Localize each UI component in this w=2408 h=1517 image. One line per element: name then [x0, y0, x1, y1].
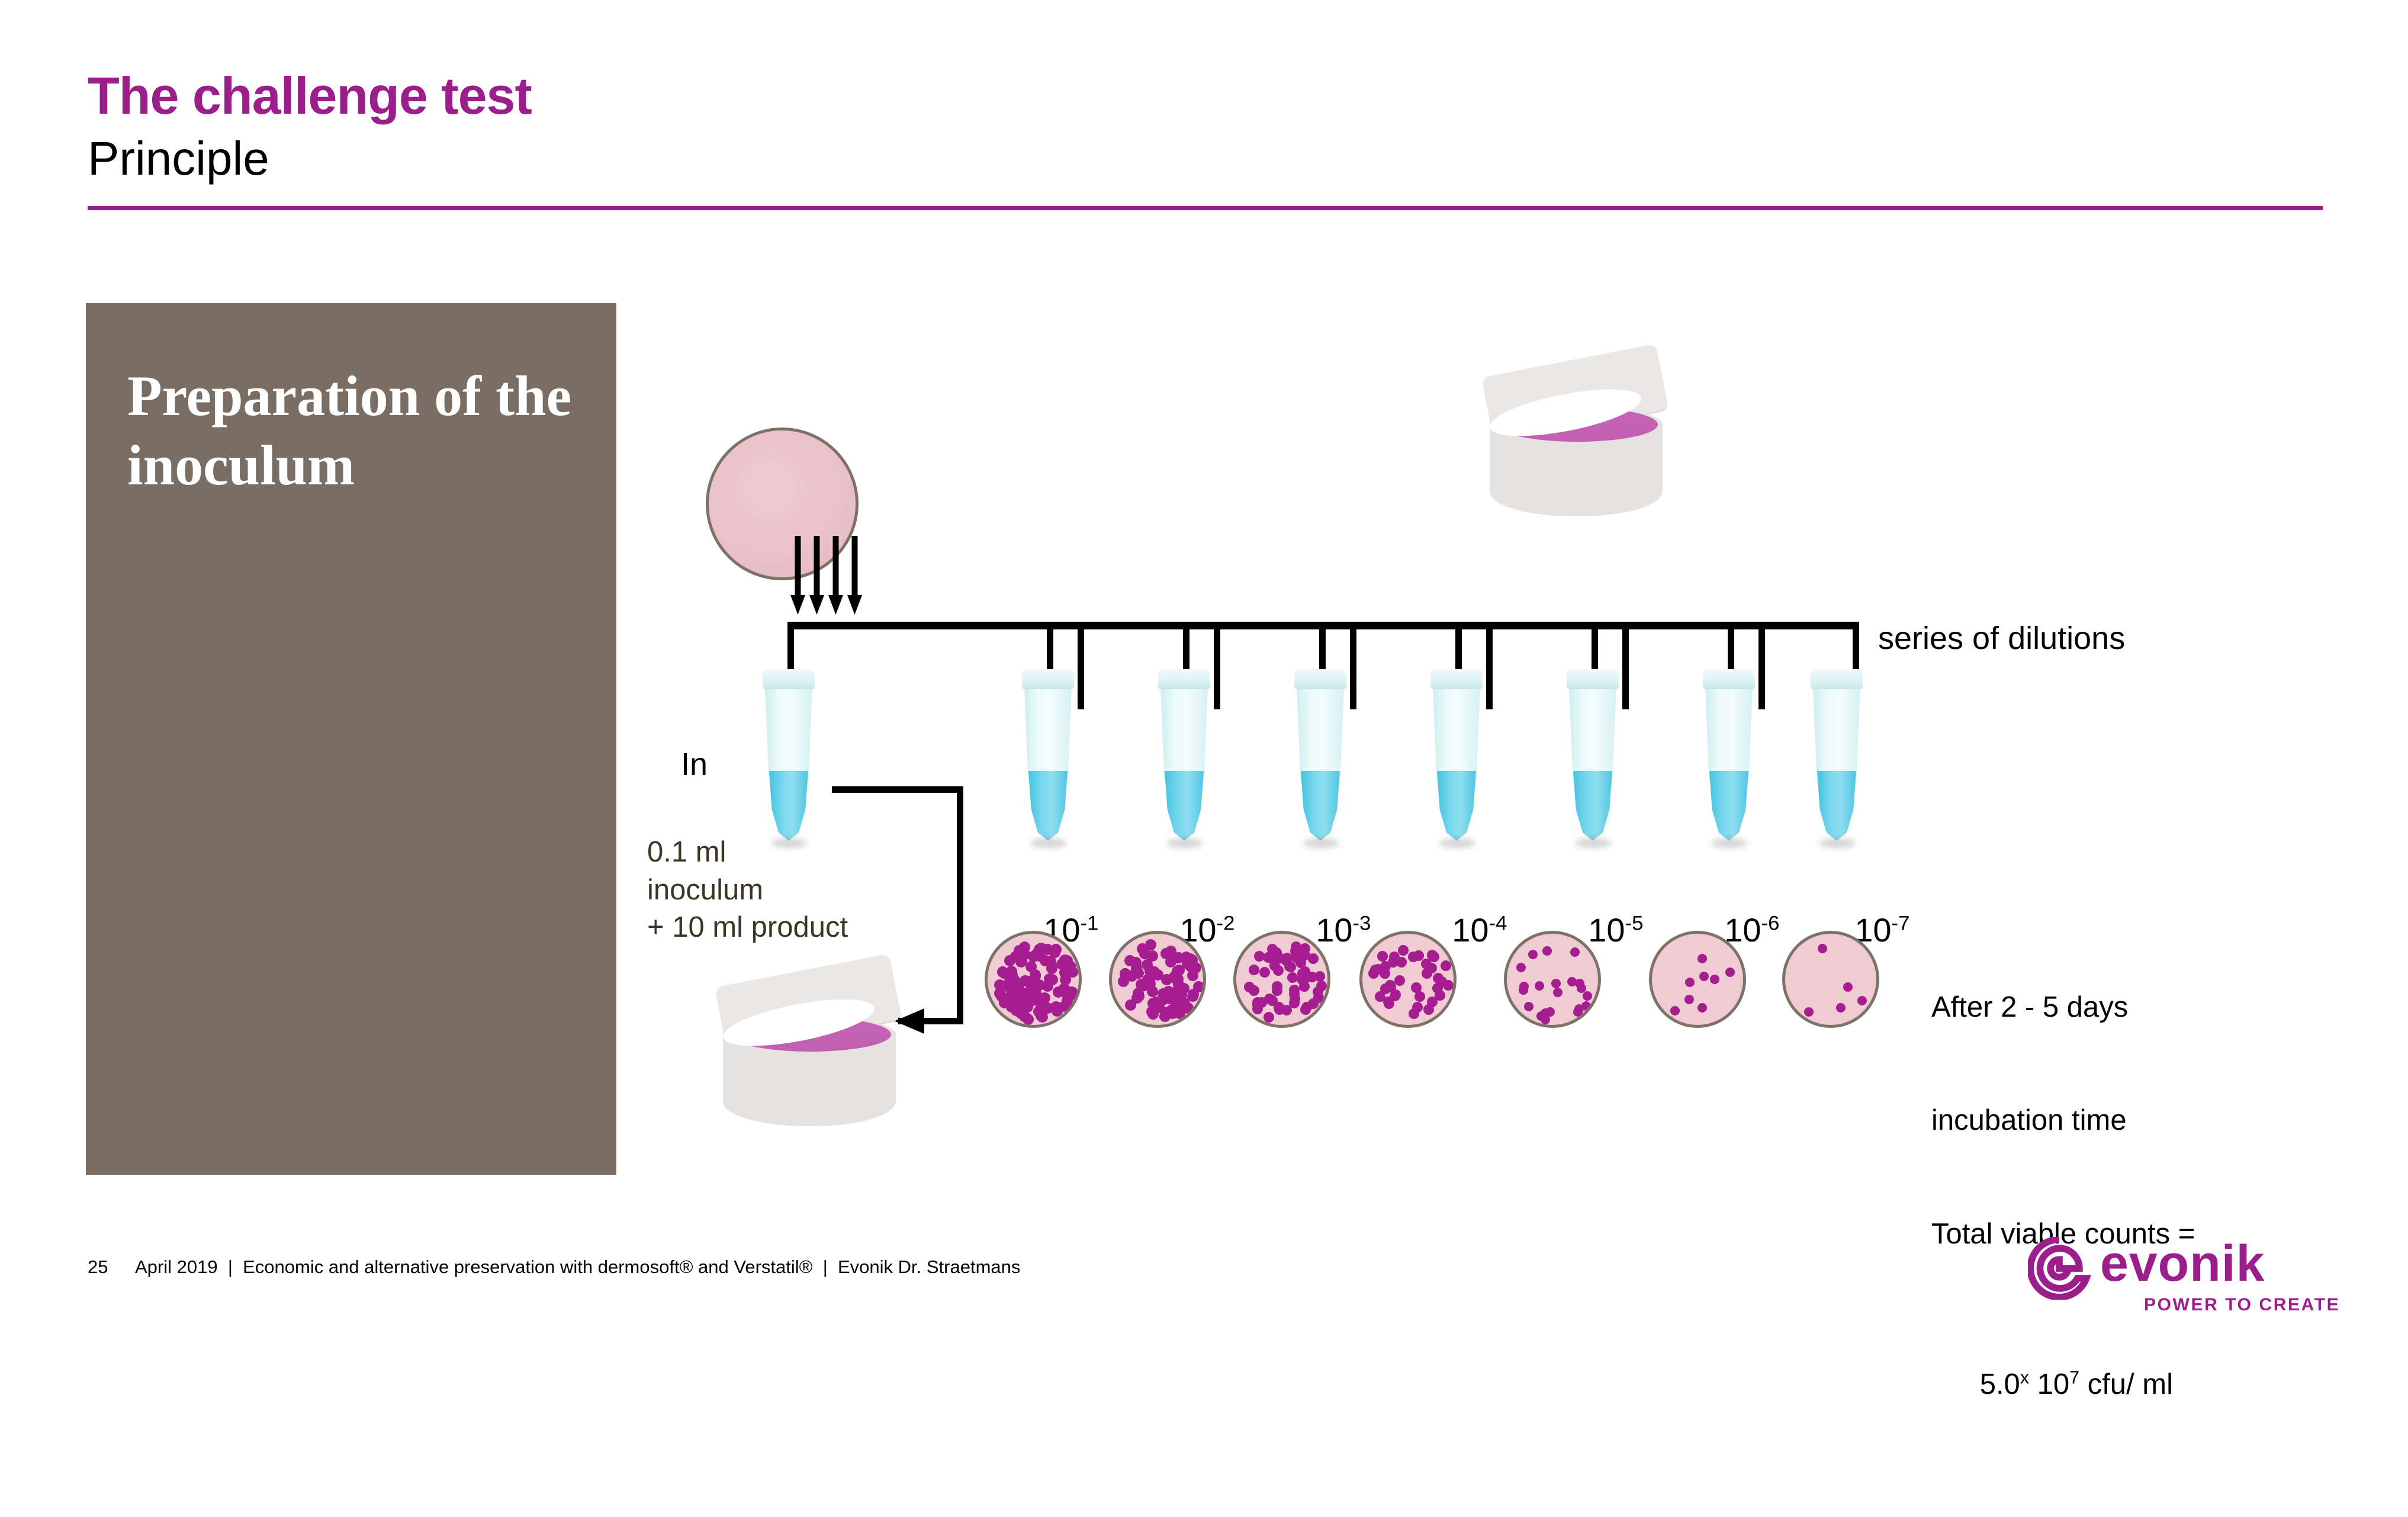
- colony-dot: [1528, 950, 1538, 959]
- slide-canvas: The challenge test Principle Preparation…: [0, 0, 2408, 1355]
- colony-dot: [1857, 996, 1867, 1005]
- colony-dot: [1412, 1002, 1423, 1013]
- result-note-line1: After 2 - 5 days: [1931, 989, 2195, 1027]
- petri-dish-1: [985, 931, 1082, 1028]
- label-in: In: [681, 744, 708, 785]
- colony-dot: [1027, 995, 1039, 1006]
- dilution-base-4: 10: [1452, 911, 1488, 949]
- colony-dot: [1368, 968, 1379, 979]
- colony-dot: [1570, 947, 1580, 957]
- colony-dot: [1542, 946, 1552, 956]
- dilution-exp-5: -5: [1625, 912, 1644, 934]
- colony-dot: [1147, 950, 1158, 962]
- inoculation-feed-line: [832, 786, 974, 1050]
- colony-dot: [1045, 956, 1056, 967]
- colony-dot: [1394, 975, 1405, 986]
- colony-dot: [1432, 983, 1443, 994]
- colony-dot: [1015, 1008, 1027, 1019]
- tube-dilution-2: [1157, 669, 1211, 847]
- colony-dot: [1285, 962, 1296, 972]
- colony-dot: [1126, 970, 1137, 982]
- evonik-wordmark: evonik: [2100, 1238, 2265, 1289]
- colony-dot: [1298, 975, 1309, 986]
- colony-dot: [1042, 1002, 1053, 1014]
- colony-dot: [1125, 999, 1136, 1011]
- colony-dot: [1162, 1007, 1173, 1018]
- tube-dilution-5: [1565, 669, 1620, 847]
- colony-dot: [1158, 988, 1169, 999]
- colony-dot: [1535, 981, 1544, 991]
- colony-dot: [1287, 972, 1298, 983]
- evonik-spiral-icon: [2028, 1237, 2091, 1300]
- result-note: After 2 - 5 days incubation time Total v…: [1931, 914, 2195, 1517]
- page-subtitle: Principle: [88, 135, 269, 182]
- colony-dot: [1574, 1004, 1584, 1014]
- colony-dot: [1375, 991, 1385, 1002]
- colony-dot: [1698, 954, 1707, 963]
- colony-dot: [1249, 965, 1259, 975]
- result-note-line2: incubation time: [1931, 1102, 2195, 1140]
- colony-dot: [1061, 999, 1072, 1010]
- inoculum-arrows-icon: [790, 536, 867, 616]
- evonik-tagline: POWER TO CREATE: [2144, 1296, 2340, 1314]
- dilution-exp-4: -4: [1489, 912, 1507, 934]
- dilution-exp-6: -6: [1761, 912, 1780, 934]
- colony-dot: [1519, 985, 1528, 995]
- colony-dot: [1147, 986, 1158, 997]
- colony-dot: [1039, 992, 1050, 1004]
- petri-jar-top-icon: [1486, 360, 1670, 526]
- tube-dilution-4: [1429, 669, 1484, 847]
- colony-dot: [1804, 1007, 1814, 1017]
- colony-dot: [1252, 1004, 1263, 1014]
- sidebar-title: Preparation of the inoculum: [127, 361, 583, 500]
- tube-source: [761, 669, 816, 847]
- result-exponent: 7: [2069, 1368, 2079, 1388]
- evonik-logo: evonik POWER TO CREATE: [2028, 1235, 2348, 1320]
- colony-dot: [1187, 991, 1198, 1002]
- colony-dot: [1423, 1004, 1434, 1015]
- colony-dot: [1272, 985, 1282, 996]
- label-series-of-dilutions: series of dilutions: [1878, 618, 2125, 659]
- result-note-line4: 5.0x 107 cfu/ ml: [1931, 1329, 2195, 1442]
- colony-dot: [1699, 972, 1709, 981]
- colony-dot: [1301, 1002, 1312, 1013]
- petri-dish-2: [1109, 931, 1206, 1028]
- petri-dish-5: [1504, 931, 1601, 1028]
- colony-dot: [1313, 992, 1324, 1003]
- label-inoculum-block: 0.1 ml inoculum + 10 ml product: [647, 834, 848, 947]
- petri-dish-3: [1233, 931, 1330, 1028]
- header-divider: [88, 206, 2323, 210]
- result-value: 5.0: [1980, 1368, 2020, 1400]
- colony-dot: [1308, 953, 1319, 964]
- colony-dot: [1161, 974, 1172, 985]
- footer-text: April 2019 | Economic and alternative pr…: [135, 1256, 1020, 1278]
- dilution-exp-1: -1: [1081, 912, 1099, 934]
- colony-dot: [1174, 965, 1185, 976]
- colony-dot: [1414, 991, 1425, 1002]
- colony-dot: [1725, 968, 1735, 977]
- colony-dot: [1281, 1005, 1292, 1015]
- colony-dot: [1818, 944, 1827, 953]
- colony-dot: [1710, 975, 1719, 984]
- colony-dot: [1396, 957, 1407, 968]
- colony-dot: [1516, 963, 1526, 972]
- dilution-exp-7: -7: [1892, 912, 1910, 934]
- colony-dot: [1173, 952, 1184, 963]
- colony-dot: [1390, 989, 1401, 1000]
- colony-dot: [1524, 1002, 1533, 1011]
- colony-dot: [1034, 979, 1045, 991]
- colony-dot: [1583, 991, 1592, 1001]
- colony-dot: [1426, 963, 1437, 973]
- colony-dot: [1171, 992, 1182, 1003]
- colony-dot: [1042, 944, 1053, 955]
- colony-dot: [1182, 1002, 1194, 1014]
- colony-dot: [1685, 978, 1695, 987]
- page-number: 25: [88, 1256, 108, 1278]
- dilution-exp-2: -2: [1217, 912, 1235, 934]
- colony-dot: [1836, 1003, 1846, 1013]
- colony-dot: [1291, 941, 1301, 952]
- petri-dish-7: [1782, 931, 1879, 1028]
- colony-dot: [1551, 979, 1561, 988]
- dilution-base-5: 10: [1588, 911, 1625, 949]
- colony-dot: [1441, 960, 1451, 971]
- colony-dot: [1684, 995, 1694, 1004]
- colony-dot: [1398, 945, 1409, 956]
- colony-dot: [1249, 985, 1259, 996]
- colony-dot: [1429, 952, 1439, 962]
- colony-dot: [1545, 1007, 1555, 1017]
- tube-dilution-3: [1293, 669, 1348, 847]
- colony-dot: [1698, 1003, 1707, 1013]
- colony-dot: [1843, 982, 1853, 992]
- colony-dot: [1289, 985, 1300, 995]
- colony-dot: [1377, 951, 1388, 962]
- colony-dot: [1443, 980, 1454, 991]
- tube-dilution-6: [1702, 669, 1756, 847]
- result-unit: cfu/ ml: [2088, 1368, 2173, 1400]
- colony-dot: [1058, 984, 1069, 995]
- colony-dot: [1316, 981, 1327, 991]
- tube-dilution-7: [1809, 669, 1864, 847]
- colony-dot: [1264, 1012, 1274, 1023]
- tube-dilution-1: [1021, 669, 1075, 847]
- colony-dot: [1553, 988, 1563, 997]
- petri-dish-6: [1649, 931, 1746, 1028]
- result-times-icon: x: [2020, 1368, 2029, 1388]
- colony-dot: [1259, 967, 1270, 978]
- dilution-exp-3: -3: [1353, 912, 1371, 934]
- page-title: The challenge test: [88, 70, 532, 122]
- colony-dot: [1133, 988, 1144, 999]
- dilution-base-3: 10: [1316, 911, 1352, 949]
- colony-dot: [1670, 1006, 1680, 1015]
- petri-dish-4: [1359, 931, 1457, 1028]
- result-base: 10: [2037, 1368, 2070, 1400]
